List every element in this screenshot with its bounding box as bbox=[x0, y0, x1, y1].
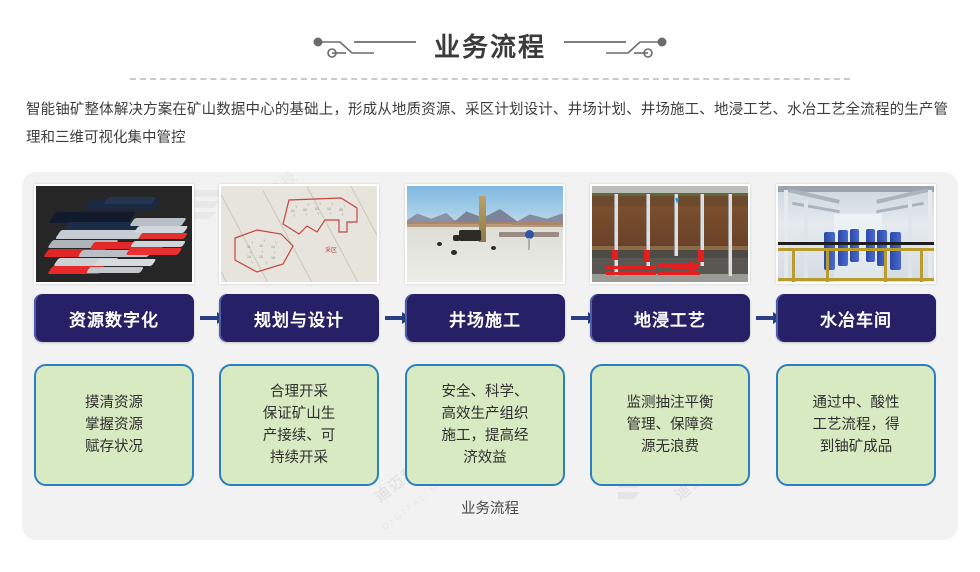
svg-text:16: 16 bbox=[271, 256, 275, 260]
svg-text:Y: Y bbox=[293, 213, 296, 218]
benefit-card-4[interactable]: 监测抽注平衡 管理、保障资 源无浪费 bbox=[590, 364, 750, 486]
thumb-hydrometallurgy-workshop[interactable] bbox=[776, 184, 936, 284]
leaching-cross-section-graphic bbox=[592, 186, 748, 282]
wave-line-ornament-left bbox=[310, 34, 420, 60]
svg-text:12: 12 bbox=[259, 244, 263, 248]
workshop-interior-render bbox=[778, 186, 934, 282]
svg-text:Y: Y bbox=[319, 201, 322, 206]
svg-text:Y: Y bbox=[251, 260, 254, 265]
svg-text:Y: Y bbox=[275, 240, 278, 245]
svg-text:Y: Y bbox=[331, 201, 334, 206]
svg-text:Y: Y bbox=[251, 240, 254, 245]
intro-paragraph: 智能铀矿整体解决方案在矿山数据中心的基础上，形成从地质资源、采区计划设计、井场计… bbox=[26, 96, 948, 152]
step-label-4: 地浸工艺 bbox=[634, 306, 706, 331]
benefit-card-text-4: 监测抽注平衡 管理、保障资 源无浪费 bbox=[627, 392, 714, 458]
step-button-2[interactable]: 规划与设计 bbox=[219, 294, 379, 342]
step-label-1: 资源数字化 bbox=[69, 306, 159, 331]
svg-text:Y: Y bbox=[273, 250, 276, 255]
geological-layers-graphic bbox=[36, 186, 192, 282]
svg-text:04: 04 bbox=[327, 207, 331, 211]
svg-text:Y: Y bbox=[343, 203, 346, 208]
process-step-row: 资源数字化 规划与设计 井场施工 地浸工艺 bbox=[22, 284, 958, 354]
step-button-1[interactable]: 资源数字化 bbox=[34, 294, 194, 342]
step-button-5[interactable]: 水冶车间 bbox=[776, 294, 936, 342]
svg-text:14: 14 bbox=[247, 255, 251, 259]
benefit-card-text-3: 安全、科学、 高效生产组织 施工，提高经 济效益 bbox=[442, 381, 529, 469]
svg-text:02: 02 bbox=[303, 208, 307, 212]
svg-text:15: 15 bbox=[259, 255, 263, 259]
benefit-card-1[interactable]: 摸清资源 掌握资源 赋存状况 bbox=[34, 364, 194, 486]
wellsite-3d-render bbox=[407, 186, 563, 282]
thumbnail-row: YYY YY YYY YY YYY YYY YY 010203 0405 111… bbox=[22, 172, 958, 284]
thumb-mining-plan-cad[interactable]: YYY YY YYY YY YYY YYY YY 010203 0405 111… bbox=[219, 184, 379, 284]
svg-text:Y: Y bbox=[265, 260, 268, 265]
mining-plan-drawing: YYY YY YYY YY YYY YYY YY 010203 0405 111… bbox=[221, 186, 377, 282]
svg-text:Y: Y bbox=[295, 204, 298, 209]
svg-text:Y: Y bbox=[307, 202, 310, 207]
panel-caption: 业务流程 bbox=[22, 497, 958, 518]
benefit-card-5[interactable]: 通过中、酸性 工艺流程，得 到铀矿成品 bbox=[776, 364, 936, 486]
step-button-4[interactable]: 地浸工艺 bbox=[590, 294, 750, 342]
step-label-5: 水冶车间 bbox=[820, 306, 892, 331]
benefit-card-2[interactable]: 合理开采 保证矿山生 产接续、可 持续开采 bbox=[219, 364, 379, 486]
svg-text:采区: 采区 bbox=[325, 246, 337, 254]
wave-line-ornament-right bbox=[560, 34, 670, 60]
thumb-geological-3d-model[interactable] bbox=[34, 184, 194, 284]
benefit-card-text-1: 摸清资源 掌握资源 赋存状况 bbox=[85, 392, 143, 458]
step-button-3[interactable]: 井场施工 bbox=[405, 294, 565, 342]
thumb-wellsite-construction-render[interactable] bbox=[405, 184, 565, 284]
svg-text:05: 05 bbox=[339, 208, 343, 212]
svg-text:11: 11 bbox=[247, 245, 251, 249]
benefit-card-text-5: 通过中、酸性 工艺流程，得 到铀矿成品 bbox=[813, 392, 900, 458]
header-divider bbox=[130, 78, 850, 80]
thumb-insitu-leaching-section[interactable] bbox=[590, 184, 750, 284]
ore-block-polygons: YYY YY YYY YY YYY YYY YY 010203 0405 111… bbox=[221, 186, 377, 282]
svg-text:01: 01 bbox=[291, 209, 295, 213]
process-panel: 迪迈科技 DIGITAL MINE 迪迈科技 迪迈科技 bbox=[22, 172, 958, 540]
step-label-3: 井场施工 bbox=[449, 306, 521, 331]
step-label-2: 规划与设计 bbox=[254, 306, 344, 331]
svg-text:13: 13 bbox=[271, 245, 275, 249]
benefit-card-row: 摸清资源 掌握资源 赋存状况 合理开采 保证矿山生 产接续、可 持续开采 安全、… bbox=[22, 364, 958, 494]
page-header: 业务流程 bbox=[0, 24, 980, 70]
svg-text:Y: Y bbox=[317, 211, 320, 216]
svg-text:Y: Y bbox=[329, 211, 332, 216]
svg-text:Y: Y bbox=[261, 249, 264, 254]
benefit-card-text-2: 合理开采 保证矿山生 产接续、可 持续开采 bbox=[263, 381, 336, 469]
svg-text:Y: Y bbox=[341, 212, 344, 217]
svg-text:Y: Y bbox=[305, 212, 308, 217]
svg-text:Y: Y bbox=[263, 238, 266, 243]
page-title: 业务流程 bbox=[434, 34, 546, 60]
svg-text:03: 03 bbox=[315, 207, 319, 211]
benefit-card-3[interactable]: 安全、科学、 高效生产组织 施工，提高经 济效益 bbox=[405, 364, 565, 486]
business-process-infographic: 业务流程 智能铀矿整体解决方案在矿山数据中心的基础上，形成从地质资源、采区计划设… bbox=[0, 0, 980, 572]
